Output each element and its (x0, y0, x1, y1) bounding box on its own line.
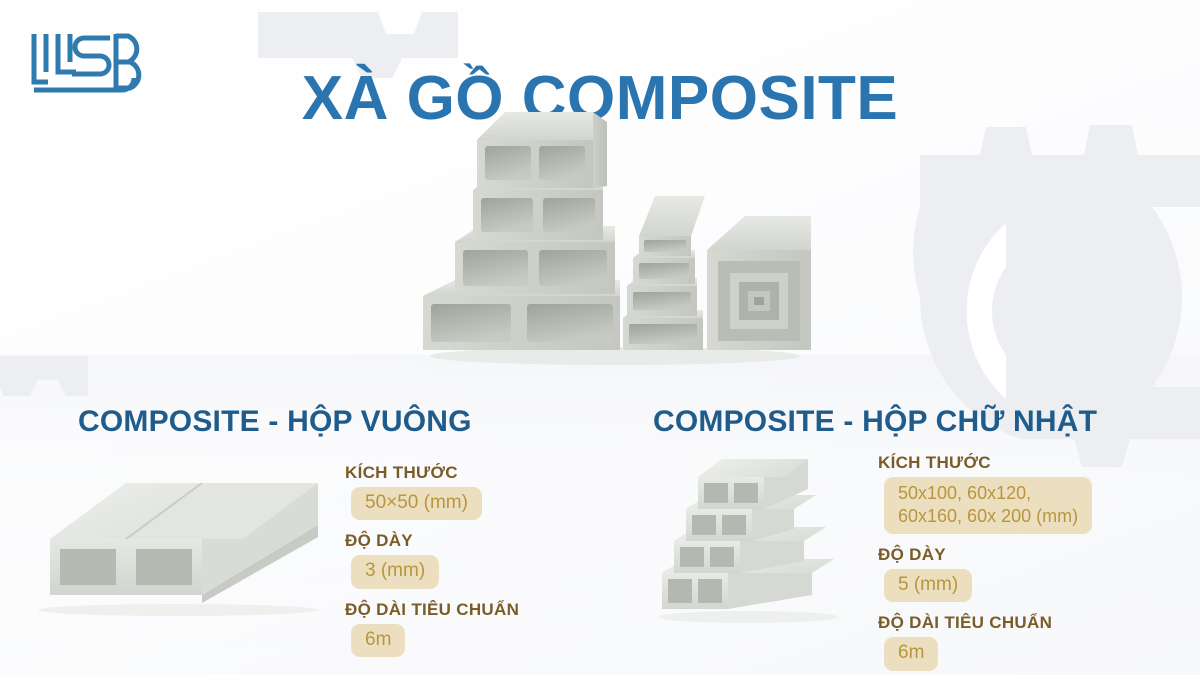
spec-value-thickness: 5 (mm) (884, 569, 972, 602)
spec-list-square: KÍCH THƯỚC 50×50 (mm) ĐỘ DÀY 3 (mm) ĐỘ D… (345, 463, 585, 668)
spec-item-size: KÍCH THƯỚC 50×50 (mm) (345, 463, 585, 529)
spec-label-length: ĐỘ DÀI TIÊU CHUẨN (345, 600, 585, 620)
spec-item-thickness: ĐỘ DÀY 5 (mm) (878, 545, 1188, 611)
hero-product-image (415, 100, 815, 368)
spec-item-size: KÍCH THƯỚC 50x100, 60x120, 60x160, 60x 2… (878, 453, 1188, 543)
spec-label-thickness: ĐỘ DÀY (345, 531, 585, 551)
spec-value-size: 50x100, 60x120, 60x160, 60x 200 (mm) (884, 477, 1092, 534)
spec-value-length: 6m (884, 637, 938, 670)
spec-item-length: ĐỘ DÀI TIÊU CHUẨN 6m (345, 600, 585, 666)
spec-label-length: ĐỘ DÀI TIÊU CHUẨN (878, 613, 1188, 633)
spec-value-thickness: 3 (mm) (351, 555, 439, 588)
spec-item-thickness: ĐỘ DÀY 3 (mm) (345, 531, 585, 597)
spec-value-length: 6m (351, 624, 405, 657)
spec-label-size: KÍCH THƯỚC (345, 463, 585, 483)
infographic-canvas: XÀ GỒ COMPOSITE (0, 0, 1200, 675)
product-photo-square (18, 477, 338, 617)
product-photo-rectangular (648, 445, 848, 625)
panel-rectangular: COMPOSITE - HỘP CHỮ NHẬT (600, 395, 1200, 665)
panel-title-rectangular: COMPOSITE - HỘP CHỮ NHẬT (653, 405, 1097, 439)
spec-label-thickness: ĐỘ DÀY (878, 545, 1188, 565)
spec-item-length: ĐỘ DÀI TIÊU CHUẨN 6m (878, 613, 1188, 679)
spec-label-size: KÍCH THƯỚC (878, 453, 1188, 473)
panel-square: COMPOSITE - HỘP VUÔNG (0, 395, 600, 665)
spec-value-size: 50×50 (mm) (351, 487, 482, 520)
spec-list-rectangular: KÍCH THƯỚC 50x100, 60x120, 60x160, 60x 2… (878, 453, 1188, 682)
panel-title-square: COMPOSITE - HỘP VUÔNG (78, 405, 472, 439)
